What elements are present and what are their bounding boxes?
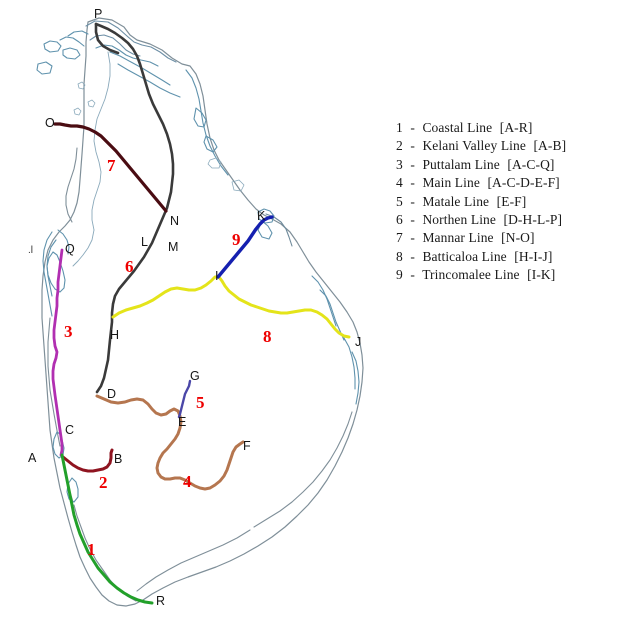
node-label-a: A xyxy=(28,452,36,465)
legend-item-8: 8 - Batticaloa Line [H-I-J] xyxy=(396,248,631,266)
inland-spot-2 xyxy=(74,108,81,115)
legend-span-5: [E-F] xyxy=(497,194,527,209)
route-number-5: 5 xyxy=(196,394,205,411)
node-label-j: J xyxy=(355,336,361,349)
legend-name-9: Trincomalee Line xyxy=(422,267,519,282)
rail-line-3-puttalam xyxy=(53,250,62,455)
node-label-q: Q xyxy=(65,243,75,256)
legend-name-8: Batticaloa Line xyxy=(422,249,506,264)
mannar-islet xyxy=(37,62,52,74)
legend-separator-6: - xyxy=(410,212,415,227)
rail-line-8-batticaloa xyxy=(113,277,349,337)
nw-coast-line xyxy=(66,148,77,222)
rail-3-path xyxy=(53,250,62,455)
rail-line-5-matale xyxy=(179,381,190,417)
legend-index-9: 9 xyxy=(396,267,403,282)
legend-span-8: [H-I-J] xyxy=(514,249,552,264)
jaffna-inner-3 xyxy=(68,31,88,36)
legend-item-4: 4 - Main Line [A-C-D-E-F] xyxy=(396,174,631,192)
route-number-4: 4 xyxy=(183,473,192,490)
rail-8-path xyxy=(113,277,349,337)
rail-9-path xyxy=(218,217,272,277)
inland-tank-2 xyxy=(232,180,244,191)
jaffna-islets xyxy=(44,41,61,52)
node-label-g: G xyxy=(190,370,200,383)
node-label-l: L xyxy=(141,236,148,249)
ne-coast-lagoon-1 xyxy=(194,108,206,127)
node-label-e: E xyxy=(178,416,186,429)
legend-span-6: [D-H-L-P] xyxy=(503,212,562,227)
rail-5-path xyxy=(179,381,190,417)
legend-separator-4: - xyxy=(410,175,415,190)
legend-span-7: [N-O] xyxy=(501,230,535,245)
legend-name-7: Mannar Line xyxy=(422,230,493,245)
legend-item-3: 3 - Puttalam Line [A-C-Q] xyxy=(396,156,631,174)
legend-separator-1: - xyxy=(410,120,415,135)
rail-2-path xyxy=(63,450,112,471)
legend-item-1: 1 - Coastal Line [A-R] xyxy=(396,119,631,137)
legend-index-8: 8 xyxy=(396,249,403,264)
rail-line-9-trincomalee xyxy=(218,217,272,277)
rail-line-2-kelani-valley xyxy=(63,450,112,471)
route-number-3: 3 xyxy=(64,323,73,340)
route-number-1: 1 xyxy=(87,541,96,558)
inland-spot-3 xyxy=(88,100,95,107)
legend-name-3: Puttalam Line xyxy=(422,157,499,172)
sw-coast xyxy=(74,505,136,601)
legend-separator-2: - xyxy=(410,138,415,153)
rail-line-4-main xyxy=(97,396,243,489)
node-label-i: I xyxy=(215,270,218,283)
route-number-2: 2 xyxy=(99,474,108,491)
node-label-m: M xyxy=(168,241,178,254)
legend-index-3: 3 xyxy=(396,157,403,172)
legend-item-2: 2 - Kelani Valley Line [A-B] xyxy=(396,137,631,155)
legend: 1 - Coastal Line [A-R] 2 - Kelani Valley… xyxy=(396,119,631,285)
node-label-b: B xyxy=(114,453,122,466)
jaffna-inner-4 xyxy=(60,37,84,46)
jaffna-islets-2 xyxy=(63,48,80,59)
railway-map-figure: P O N L M K I Q H J G D E F C A B R 7 9 … xyxy=(0,0,635,633)
legend-span-4: [A-C-D-E-F] xyxy=(487,175,559,190)
node-label-h: H xyxy=(110,329,119,342)
node-label-n: N xyxy=(170,215,179,228)
route-number-6: 6 xyxy=(125,258,134,275)
legend-name-1: Coastal Line xyxy=(422,120,492,135)
legend-index-1: 1 xyxy=(396,120,403,135)
island-tick-mark: .l xyxy=(28,246,33,256)
node-label-r: R xyxy=(156,595,165,608)
legend-separator-9: - xyxy=(410,267,415,282)
legend-index-6: 6 xyxy=(396,212,403,227)
legend-separator-3: - xyxy=(410,157,415,172)
rail-4-path xyxy=(97,396,243,489)
node-label-d: D xyxy=(107,388,116,401)
legend-item-5: 5 - Matale Line [E-F] xyxy=(396,193,631,211)
legend-index-2: 2 xyxy=(396,138,403,153)
legend-index-4: 4 xyxy=(396,175,403,190)
ne-coast-lagoon-2 xyxy=(204,136,217,152)
legend-name-4: Main Line xyxy=(422,175,480,190)
legend-span-9: [I-K] xyxy=(527,267,555,282)
legend-item-9: 9 - Trincomalee Line [I-K] xyxy=(396,266,631,284)
legend-name-5: Matale Line xyxy=(422,194,489,209)
route-number-9: 9 xyxy=(232,231,241,248)
inland-river-2 xyxy=(73,230,94,266)
legend-separator-5: - xyxy=(410,194,415,209)
legend-span-3: [A-C-Q] xyxy=(507,157,554,172)
legend-separator-7: - xyxy=(410,230,415,245)
route-number-8: 8 xyxy=(263,328,272,345)
node-label-k: K xyxy=(257,210,265,223)
node-label-f: F xyxy=(243,440,251,453)
legend-item-6: 6 - Northen Line [D-H-L-P] xyxy=(396,211,631,229)
legend-span-1: [A-R] xyxy=(500,120,533,135)
node-label-c: C xyxy=(65,424,74,437)
east-coast-detail-1 xyxy=(344,338,355,389)
route-number-7: 7 xyxy=(107,157,116,174)
legend-name-6: Northen Line xyxy=(422,212,496,227)
legend-name-2: Kelani Valley Line xyxy=(422,138,526,153)
sri-lanka-map-svg xyxy=(0,0,380,633)
legend-separator-8: - xyxy=(410,249,415,264)
legend-index-7: 7 xyxy=(396,230,403,245)
south-coast-detail xyxy=(137,530,250,591)
node-label-o: O xyxy=(45,117,55,130)
legend-span-2: [A-B] xyxy=(533,138,566,153)
node-label-p: P xyxy=(94,8,102,21)
legend-item-7: 7 - Mannar Line [N-O] xyxy=(396,229,631,247)
legend-index-5: 5 xyxy=(396,194,403,209)
